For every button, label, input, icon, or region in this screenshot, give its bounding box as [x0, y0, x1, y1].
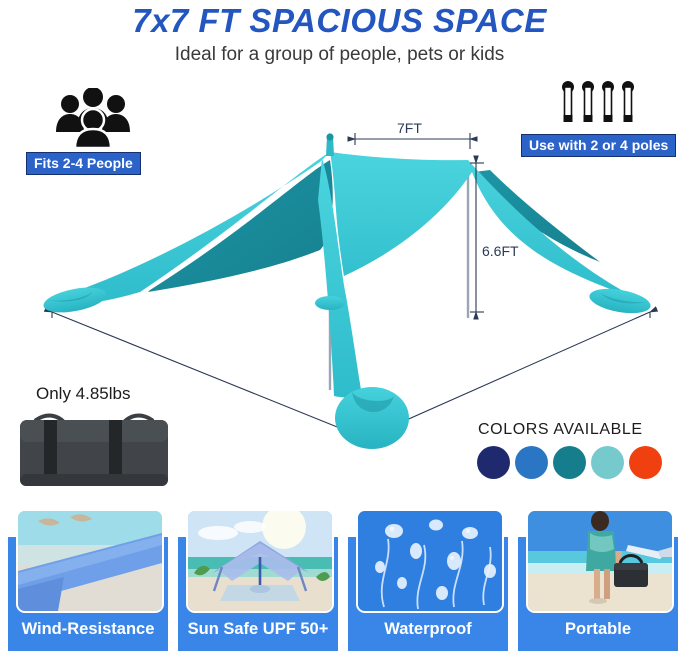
feature-label: Sun Safe UPF 50+: [178, 620, 338, 639]
color-swatch-light-teal[interactable]: [591, 446, 624, 479]
water-droplets-photo: [356, 509, 504, 613]
dimension-width-label: 7FT: [397, 120, 422, 136]
color-swatch-orange[interactable]: [629, 446, 662, 479]
four-poles-icon: [560, 80, 640, 130]
group-of-people-icon: [48, 88, 138, 148]
woman-carrying-bag-photo: [526, 509, 674, 613]
badge-use-with-poles: Use with 2 or 4 poles: [521, 134, 676, 157]
badge-fits-people: Fits 2-4 People: [26, 152, 141, 175]
color-swatch-teal[interactable]: [553, 446, 586, 479]
feature-label: Wind-Resistance: [8, 620, 168, 639]
carry-bag-icon: [14, 404, 174, 490]
page-title: 7x7 FT SPACIOUS SPACE: [0, 2, 679, 40]
feature-panel-sun-safe[interactable]: Sun Safe UPF 50+: [178, 537, 338, 651]
feature-label: Waterproof: [348, 620, 508, 639]
feature-panel-waterproof[interactable]: Waterproof: [348, 537, 508, 651]
page-subtitle: Ideal for a group of people, pets or kid…: [0, 44, 679, 66]
feature-label: Portable: [518, 620, 678, 639]
color-swatch-navy[interactable]: [477, 446, 510, 479]
infographic-root: 7x7 FT SPACIOUS SPACE Ideal for a group …: [0, 0, 679, 651]
canopy-fabric-wind-photo: [16, 509, 164, 613]
feature-panel-portable[interactable]: Portable: [518, 537, 678, 651]
color-swatch-list: [477, 446, 662, 480]
dimension-height-label: 6.6FT: [482, 243, 519, 259]
feature-strip: Wind-Resistance: [0, 537, 679, 651]
weight-label: Only 4.85lbs: [36, 384, 131, 404]
color-swatch-blue[interactable]: [515, 446, 548, 479]
feature-panel-wind-resistance[interactable]: Wind-Resistance: [8, 537, 168, 651]
beach-canopy-sun-photo: [186, 509, 334, 613]
colors-available-title: COLORS AVAILABLE: [478, 421, 643, 439]
